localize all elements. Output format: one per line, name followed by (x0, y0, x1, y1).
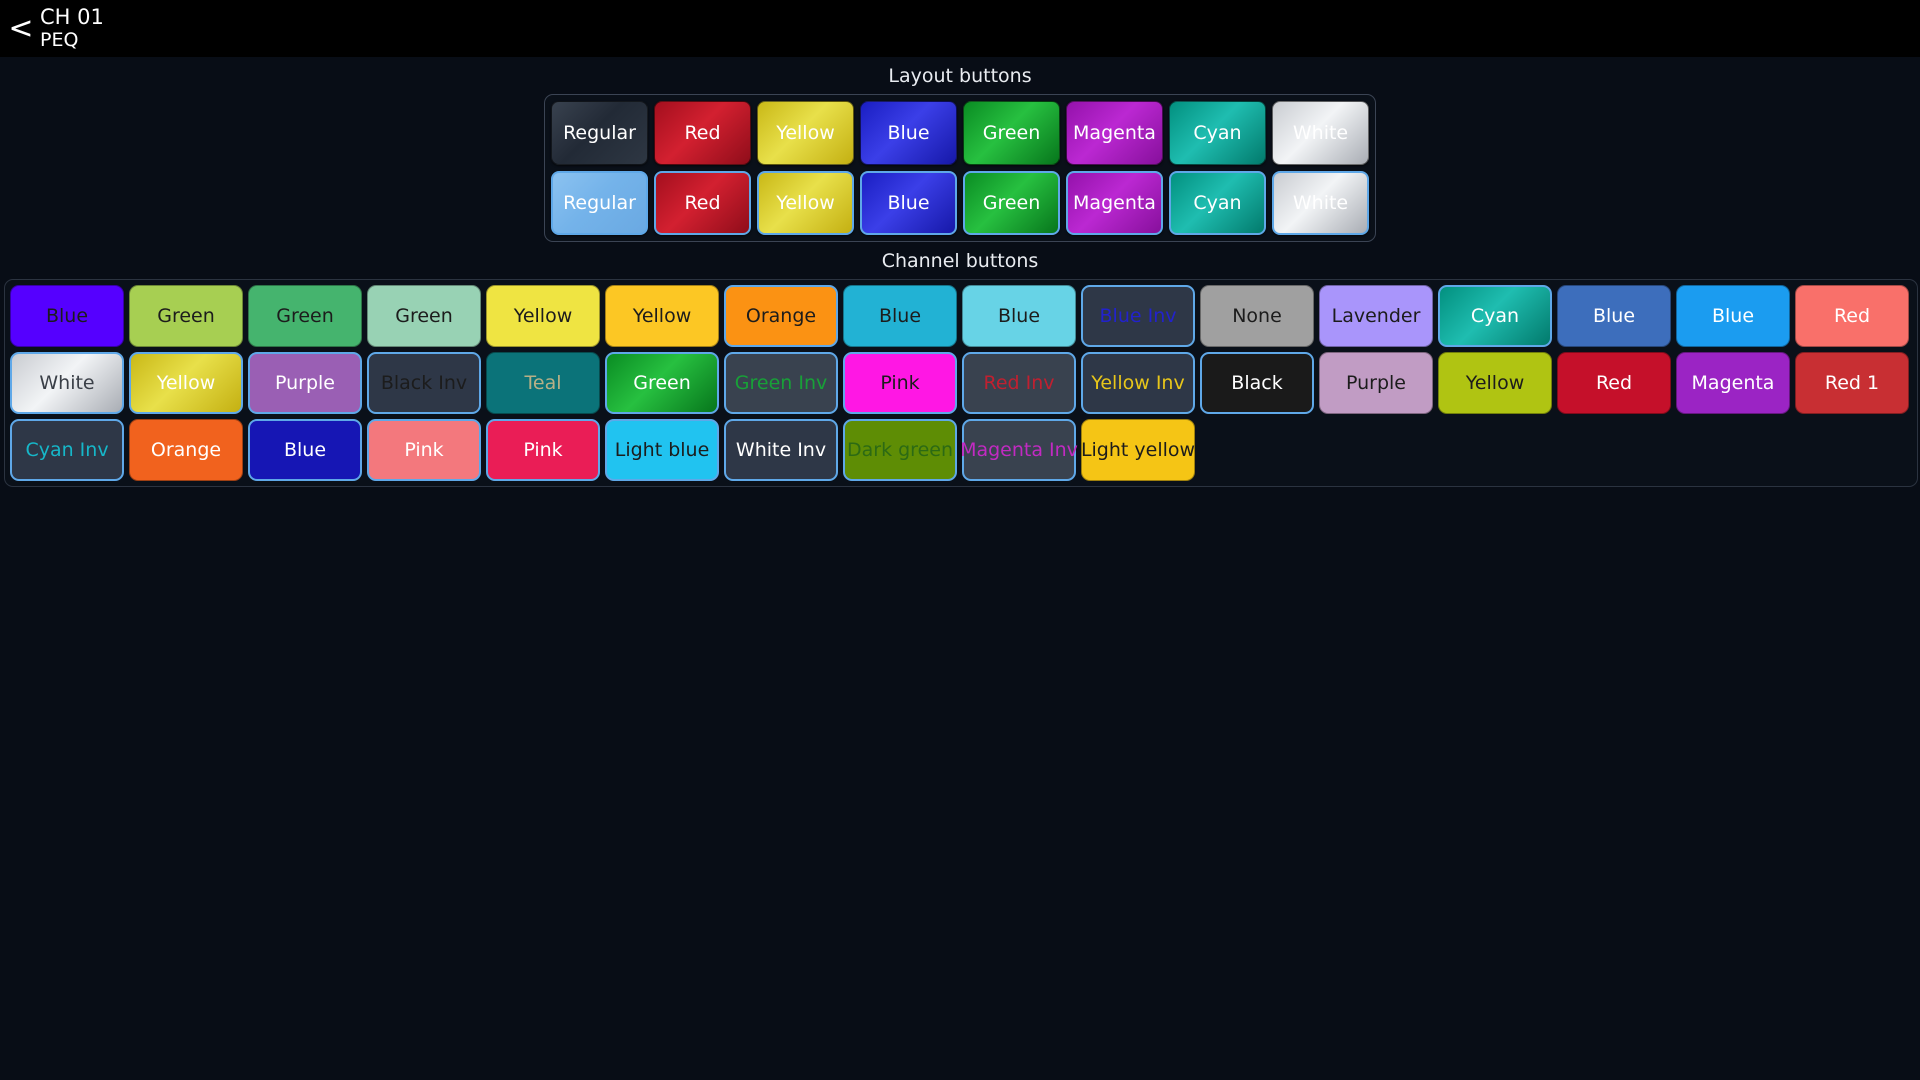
channel-button-label: Red Inv (983, 372, 1054, 394)
layout-button-label: White (1293, 192, 1348, 214)
channel-button-red-inv[interactable]: Red Inv (962, 352, 1076, 414)
layout-button-green[interactable]: Green (963, 101, 1060, 165)
channel-button-yellow-inv[interactable]: Yellow Inv (1081, 352, 1195, 414)
channel-button-label: White Inv (736, 439, 826, 461)
channel-button-label: Blue (1593, 305, 1635, 327)
channel-button-green-inv[interactable]: Green Inv (724, 352, 838, 414)
channel-button-label: Purple (275, 372, 335, 394)
channel-button-label: Light yellow (1081, 439, 1195, 461)
channel-button-label: Teal (525, 372, 562, 394)
channel-button-light-blue[interactable]: Light blue (605, 419, 719, 481)
channel-button-row: BlueGreenGreenGreenYellowYellowOrangeBlu… (10, 285, 1912, 347)
channel-button-purple[interactable]: Purple (248, 352, 362, 414)
layout-buttons-frame: RegularRedYellowBlueGreenMagentaCyanWhit… (544, 94, 1376, 242)
channel-button-yellow[interactable]: Yellow (1438, 352, 1552, 414)
layout-button-label: Yellow (776, 122, 835, 144)
channel-button-label: Orange (151, 439, 221, 461)
channel-button-label: Yellow (1466, 372, 1525, 394)
page-title: PEQ (40, 30, 104, 51)
channel-button-label: Green (633, 372, 691, 394)
channel-section-caption: Channel buttons (0, 242, 1920, 279)
channel-button-dark-green[interactable]: Dark green (843, 419, 957, 481)
channel-button-row: WhiteYellowPurpleBlack InvTealGreenGreen… (10, 352, 1912, 414)
layout-button-label: Green (983, 192, 1041, 214)
channel-button-cyan[interactable]: Cyan (1438, 285, 1552, 347)
channel-button-orange[interactable]: Orange (724, 285, 838, 347)
channel-button-label: White (39, 372, 94, 394)
layout-button-row: RegularRedYellowBlueGreenMagentaCyanWhit… (551, 101, 1369, 165)
channel-button-label: Green Inv (735, 372, 827, 394)
channel-button-black[interactable]: Black (1200, 352, 1314, 414)
channel-button-blue[interactable]: Blue (248, 419, 362, 481)
channel-button-label: Pink (523, 439, 562, 461)
channel-button-blue[interactable]: Blue (962, 285, 1076, 347)
channel-button-magenta-inv[interactable]: Magenta Inv (962, 419, 1076, 481)
channel-button-blue[interactable]: Blue (1557, 285, 1671, 347)
channel-button-label: Red (1834, 305, 1870, 327)
channel-button-blue[interactable]: Blue (10, 285, 124, 347)
channel-button-label: Blue (284, 439, 326, 461)
layout-button-cyan[interactable]: Cyan (1169, 171, 1266, 235)
layout-button-green[interactable]: Green (963, 171, 1060, 235)
channel-button-green[interactable]: Green (605, 352, 719, 414)
channel-button-label: Blue (1712, 305, 1754, 327)
channel-button-green[interactable]: Green (367, 285, 481, 347)
layout-button-row: RegularRedYellowBlueGreenMagentaCyanWhit… (551, 171, 1369, 235)
channel-button-label: Dark green (847, 439, 953, 461)
channel-button-label: Blue (46, 305, 88, 327)
channel-name: CH 01 (40, 6, 104, 30)
layout-button-label: Regular (563, 122, 636, 144)
layout-button-regular[interactable]: Regular (551, 101, 648, 165)
layout-button-white[interactable]: White (1272, 101, 1369, 165)
channel-button-red[interactable]: Red (1557, 352, 1671, 414)
layout-button-label: Magenta (1073, 192, 1156, 214)
layout-button-label: Cyan (1193, 192, 1241, 214)
layout-button-red[interactable]: Red (654, 171, 751, 235)
layout-button-label: Magenta (1073, 122, 1156, 144)
channel-button-lavender[interactable]: Lavender (1319, 285, 1433, 347)
channel-button-black-inv[interactable]: Black Inv (367, 352, 481, 414)
channel-button-red-1[interactable]: Red 1 (1795, 352, 1909, 414)
channel-button-blue[interactable]: Blue (1676, 285, 1790, 347)
channel-button-row: Cyan InvOrangeBluePinkPinkLight blueWhit… (10, 419, 1912, 481)
layout-button-label: Red (684, 122, 720, 144)
layout-button-cyan[interactable]: Cyan (1169, 101, 1266, 165)
channel-button-label: None (1232, 305, 1282, 327)
channel-button-blue[interactable]: Blue (843, 285, 957, 347)
channel-button-purple[interactable]: Purple (1319, 352, 1433, 414)
channel-button-label: Pink (880, 372, 919, 394)
channel-button-orange[interactable]: Orange (129, 419, 243, 481)
channel-button-none[interactable]: None (1200, 285, 1314, 347)
channel-button-label: Green (276, 305, 334, 327)
channel-button-label: Purple (1346, 372, 1406, 394)
layout-button-label: Red (684, 192, 720, 214)
channel-button-label: Blue (998, 305, 1040, 327)
channel-button-pink[interactable]: Pink (843, 352, 957, 414)
channel-button-label: Lavender (1332, 305, 1421, 327)
layout-section-caption: Layout buttons (0, 57, 1920, 94)
channel-button-label: Red (1596, 372, 1632, 394)
channel-button-blue-inv[interactable]: Blue Inv (1081, 285, 1195, 347)
channel-button-label: Cyan (1471, 305, 1519, 327)
layout-button-white[interactable]: White (1272, 171, 1369, 235)
layout-button-label: Blue (887, 122, 929, 144)
channel-button-red[interactable]: Red (1795, 285, 1909, 347)
channel-button-label: Magenta (1692, 372, 1775, 394)
layout-button-label: Green (983, 122, 1041, 144)
layout-button-blue[interactable]: Blue (860, 101, 957, 165)
channel-button-cyan-inv[interactable]: Cyan Inv (10, 419, 124, 481)
layout-button-red[interactable]: Red (654, 101, 751, 165)
channel-button-label: Cyan Inv (25, 439, 108, 461)
channel-button-pink[interactable]: Pink (486, 419, 600, 481)
channel-button-yellow[interactable]: Yellow (129, 352, 243, 414)
chevron-left-icon[interactable]: < (6, 7, 36, 51)
layout-button-regular[interactable]: Regular (551, 171, 648, 235)
channel-buttons-section: BlueGreenGreenGreenYellowYellowOrangeBlu… (0, 279, 1920, 487)
channel-button-yellow[interactable]: Yellow (605, 285, 719, 347)
layout-button-yellow[interactable]: Yellow (757, 101, 854, 165)
channel-button-label: Yellow (514, 305, 573, 327)
channel-button-white-inv[interactable]: White Inv (724, 419, 838, 481)
channel-button-label: Blue Inv (1100, 305, 1177, 327)
layout-button-blue[interactable]: Blue (860, 171, 957, 235)
layout-button-label: White (1293, 122, 1348, 144)
channel-button-teal[interactable]: Teal (486, 352, 600, 414)
layout-button-yellow[interactable]: Yellow (757, 171, 854, 235)
channel-button-label: Red 1 (1825, 372, 1879, 394)
channel-button-label: Blue (879, 305, 921, 327)
layout-button-magenta[interactable]: Magenta (1066, 171, 1163, 235)
channel-button-label: Pink (404, 439, 443, 461)
channel-button-label: Yellow Inv (1091, 372, 1184, 394)
channel-button-label: Yellow (157, 372, 216, 394)
channel-button-label: Yellow (633, 305, 692, 327)
channel-button-label: Black Inv (381, 372, 467, 394)
channel-button-yellow[interactable]: Yellow (486, 285, 600, 347)
channel-button-label: Green (395, 305, 453, 327)
header-titles: CH 01 PEQ (40, 6, 104, 51)
channel-button-pink[interactable]: Pink (367, 419, 481, 481)
channel-button-light-yellow[interactable]: Light yellow (1081, 419, 1195, 481)
layout-button-label: Blue (887, 192, 929, 214)
channel-button-white[interactable]: White (10, 352, 124, 414)
channel-button-green[interactable]: Green (129, 285, 243, 347)
layout-button-label: Yellow (776, 192, 835, 214)
app-header: < CH 01 PEQ (0, 0, 1920, 57)
channel-buttons-frame: BlueGreenGreenGreenYellowYellowOrangeBlu… (4, 279, 1918, 487)
channel-button-green[interactable]: Green (248, 285, 362, 347)
channel-button-label: Black (1231, 372, 1282, 394)
layout-buttons-section: RegularRedYellowBlueGreenMagentaCyanWhit… (0, 94, 1920, 242)
channel-button-label: Orange (746, 305, 816, 327)
layout-button-magenta[interactable]: Magenta (1066, 101, 1163, 165)
channel-button-label: Green (157, 305, 215, 327)
channel-button-magenta[interactable]: Magenta (1676, 352, 1790, 414)
channel-button-label: Magenta Inv (960, 439, 1078, 461)
layout-button-label: Regular (563, 192, 636, 214)
layout-button-label: Cyan (1193, 122, 1241, 144)
channel-button-label: Light blue (615, 439, 710, 461)
